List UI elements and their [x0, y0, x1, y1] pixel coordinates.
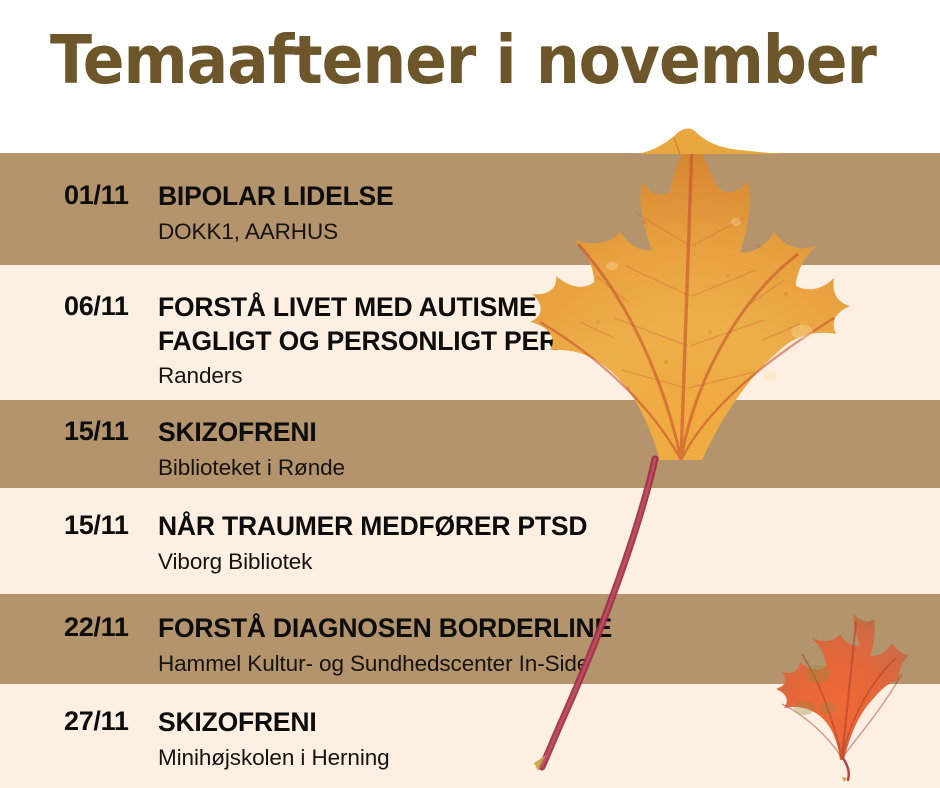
event-date: 15/11	[0, 510, 158, 541]
event-date: 01/11	[0, 180, 158, 211]
event-row: 15/11 NÅR TRAUMER MEDFØRER PTSD Viborg B…	[0, 488, 940, 594]
event-venue: Minihøjskolen i Herning	[158, 743, 928, 772]
event-venue: Hammel Kultur- og Sundhedscenter In-Side	[158, 649, 928, 678]
maple-leaf-tip-icon	[636, 126, 786, 154]
event-body: NÅR TRAUMER MEDFØRER PTSD Viborg Bibliot…	[158, 510, 940, 576]
event-row: 22/11 FORSTÅ DIAGNOSEN BORDERLINE Hammel…	[0, 594, 940, 684]
event-date: 15/11	[0, 416, 158, 447]
event-title: SKIZOFRENI	[158, 416, 928, 450]
event-title: SKIZOFRENI	[158, 706, 928, 740]
event-title: NÅR TRAUMER MEDFØRER PTSD	[158, 510, 928, 544]
event-venue: Randers	[158, 361, 928, 390]
event-list: 01/11 BIPOLAR LIDELSE DOKK1, AARHUS 06/1…	[0, 153, 940, 788]
event-body: SKIZOFRENI Biblioteket i Rønde	[158, 416, 940, 482]
event-row: 27/11 SKIZOFRENI Minihøjskolen i Herning	[0, 684, 940, 788]
event-body: BIPOLAR LIDELSE DOKK1, AARHUS	[158, 180, 940, 246]
event-venue: Biblioteket i Rønde	[158, 453, 928, 482]
event-body: SKIZOFRENI Minihøjskolen i Herning	[158, 706, 940, 772]
event-body: FORSTÅ DIAGNOSEN BORDERLINE Hammel Kultu…	[158, 612, 940, 678]
poster-header: Temaaftener i november	[0, 0, 940, 153]
event-title: FORSTÅ LIVET MED AUTISME UD FRA ET FAGLI…	[158, 291, 928, 358]
event-title: FORSTÅ DIAGNOSEN BORDERLINE	[158, 612, 928, 646]
event-venue: Viborg Bibliotek	[158, 547, 928, 576]
event-date: 22/11	[0, 612, 158, 643]
event-row: 06/11 FORSTÅ LIVET MED AUTISME UD FRA ET…	[0, 265, 940, 400]
page-title: Temaaftener i november	[50, 22, 876, 99]
event-date: 27/11	[0, 706, 158, 737]
event-date: 06/11	[0, 291, 158, 322]
event-title: BIPOLAR LIDELSE	[158, 180, 928, 214]
event-body: FORSTÅ LIVET MED AUTISME UD FRA ET FAGLI…	[158, 291, 940, 391]
event-venue: DOKK1, AARHUS	[158, 217, 928, 246]
poster-canvas: 01/11 BIPOLAR LIDELSE DOKK1, AARHUS 06/1…	[0, 0, 940, 788]
event-row: 01/11 BIPOLAR LIDELSE DOKK1, AARHUS	[0, 153, 940, 265]
event-row: 15/11 SKIZOFRENI Biblioteket i Rønde	[0, 400, 940, 488]
